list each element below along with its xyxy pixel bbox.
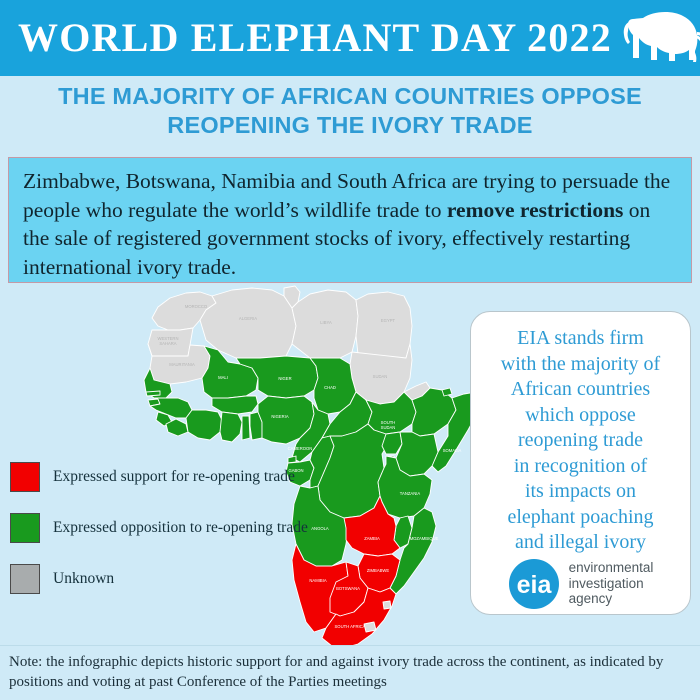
map-label-mozambique: MOZAMBIQUE bbox=[410, 536, 439, 541]
country-algeria bbox=[200, 288, 296, 358]
eia-callout-text: EIA stands firm with the majority of Afr… bbox=[501, 326, 660, 556]
map-label-mauritania: MAURITANIA bbox=[169, 362, 195, 367]
header-band: WORLD ELEPHANT DAY 2022 bbox=[0, 0, 700, 76]
legend-label-support: Expressed support for re-opening trade bbox=[53, 468, 295, 486]
country-egypt bbox=[356, 292, 412, 358]
lead-emphasis: remove restrictions bbox=[447, 198, 624, 222]
map-label-libya: LIBYA bbox=[320, 320, 332, 325]
map-label-algeria: ALGERIA bbox=[239, 316, 257, 321]
map-label-egypt: EGYPT bbox=[381, 318, 396, 323]
map-label-chad: CHAD bbox=[324, 385, 336, 390]
map-label-angola: ANGOLA bbox=[311, 526, 329, 531]
subtitle-line-2: REOPENING THE IVORY TRADE bbox=[0, 111, 700, 140]
country-lesotho bbox=[364, 622, 376, 632]
callout-line-1: EIA stands firm bbox=[501, 326, 660, 352]
eia-mark-text: eia bbox=[516, 571, 552, 599]
map-label-south-sudan-2: SUDAN bbox=[381, 425, 396, 430]
eia-callout-box: EIA stands firm with the majority of Afr… bbox=[470, 311, 691, 615]
page-title: WORLD ELEPHANT DAY 2022 bbox=[18, 18, 612, 58]
country-burkina-faso bbox=[212, 396, 258, 414]
callout-line-4: which oppose bbox=[501, 403, 660, 429]
subtitle: THE MAJORITY OF AFRICAN COUNTRIES OPPOSE… bbox=[0, 82, 700, 140]
map-label-tanzania: TANZANIA bbox=[400, 491, 421, 496]
country-gambia bbox=[146, 391, 160, 396]
map-label-mali: MALI bbox=[218, 375, 228, 380]
country-kenya bbox=[396, 432, 438, 476]
map-label-western-sahara-2: SAHARA bbox=[159, 341, 176, 346]
map-label-cameroon: CAMEROON bbox=[288, 446, 313, 451]
eia-logo: eia environmental investigation agency bbox=[508, 558, 654, 610]
legend-label-unknown: Unknown bbox=[53, 570, 114, 588]
map-label-sudan: SUDAN bbox=[373, 374, 388, 379]
callout-line-8: elephant poaching bbox=[501, 505, 660, 531]
eia-wordmark-line-2: investigation bbox=[569, 576, 654, 592]
subtitle-line-1: THE MAJORITY OF AFRICAN COUNTRIES OPPOSE bbox=[0, 82, 700, 111]
elephant-icon bbox=[612, 8, 700, 68]
eia-wordmark: environmental investigation agency bbox=[569, 560, 654, 607]
callout-line-9: and illegal ivory bbox=[501, 530, 660, 556]
map-label-zimbabwe: ZIMBABWE bbox=[367, 568, 390, 573]
legend-swatch-unknown bbox=[10, 564, 40, 594]
footnote: Note: the infographic depicts historic s… bbox=[9, 652, 697, 692]
eia-wordmark-line-3: agency bbox=[569, 591, 654, 607]
legend-swatch-opposition bbox=[10, 513, 40, 543]
country-cote-divoire bbox=[186, 410, 222, 440]
legend-unknown: Unknown bbox=[10, 564, 310, 594]
lead-paragraph-box: Zimbabwe, Botswana, Namibia and South Af… bbox=[8, 157, 692, 283]
country-djibouti bbox=[442, 388, 452, 396]
country-mozambique bbox=[390, 508, 436, 594]
map-label-namibia: NAMIBIA bbox=[309, 578, 326, 583]
country-togo bbox=[242, 416, 250, 440]
map-label-somalia: SOMALIA bbox=[443, 448, 462, 453]
map-label-south-africa: SOUTH AFRICA bbox=[335, 624, 366, 629]
map-label-morocco: MOROCCO bbox=[185, 304, 208, 309]
country-eswatini bbox=[383, 601, 391, 609]
callout-line-7: its impacts on bbox=[501, 479, 660, 505]
country-ghana bbox=[220, 412, 242, 442]
callout-line-2: with the majority of bbox=[501, 352, 660, 378]
legend-support: Expressed support for re-opening trade bbox=[10, 462, 310, 492]
map-label-zambia: ZAMBIA bbox=[364, 536, 380, 541]
legend-label-opposition: Expressed opposition to re-opening trade bbox=[53, 519, 308, 537]
callout-line-6: in recognition of bbox=[501, 454, 660, 480]
callout-line-5: reopening trade bbox=[501, 428, 660, 454]
legend-swatch-support bbox=[10, 462, 40, 492]
lead-paragraph: Zimbabwe, Botswana, Namibia and South Af… bbox=[23, 167, 677, 281]
map-label-niger: NIGER bbox=[278, 376, 291, 381]
map-legend: Expressed support for re-opening trade E… bbox=[10, 462, 310, 615]
footnote-divider bbox=[0, 645, 700, 646]
eia-logo-mark-icon: eia bbox=[508, 558, 560, 610]
callout-line-3: African countries bbox=[501, 377, 660, 403]
map-label-nigeria: NIGERIA bbox=[271, 414, 288, 419]
map-label-botswana: BOTSWANA bbox=[336, 586, 360, 591]
eia-wordmark-line-1: environmental bbox=[569, 560, 654, 576]
legend-opposition: Expressed opposition to re-opening trade bbox=[10, 513, 310, 543]
